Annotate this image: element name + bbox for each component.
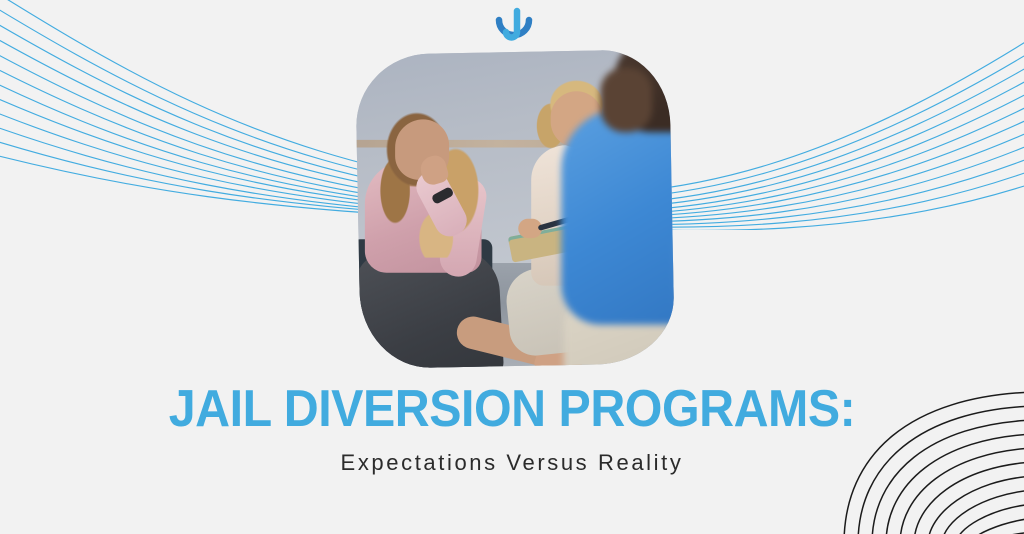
featured-image-canvas: JAIL DIVERSION PROGRAMS: Expectations Ve… (0, 0, 1024, 534)
page-title: JAIL DIVERSION PROGRAMS: (36, 383, 988, 435)
j-mark-logo[interactable] (492, 6, 536, 50)
page-subtitle: Expectations Versus Reality (0, 450, 1024, 476)
person-three-foreground (557, 49, 675, 369)
person-three-blue-scrubs (561, 109, 675, 325)
group-therapy-session-photo (355, 49, 675, 369)
photo-scene (355, 49, 675, 369)
person-three-face (600, 68, 652, 133)
